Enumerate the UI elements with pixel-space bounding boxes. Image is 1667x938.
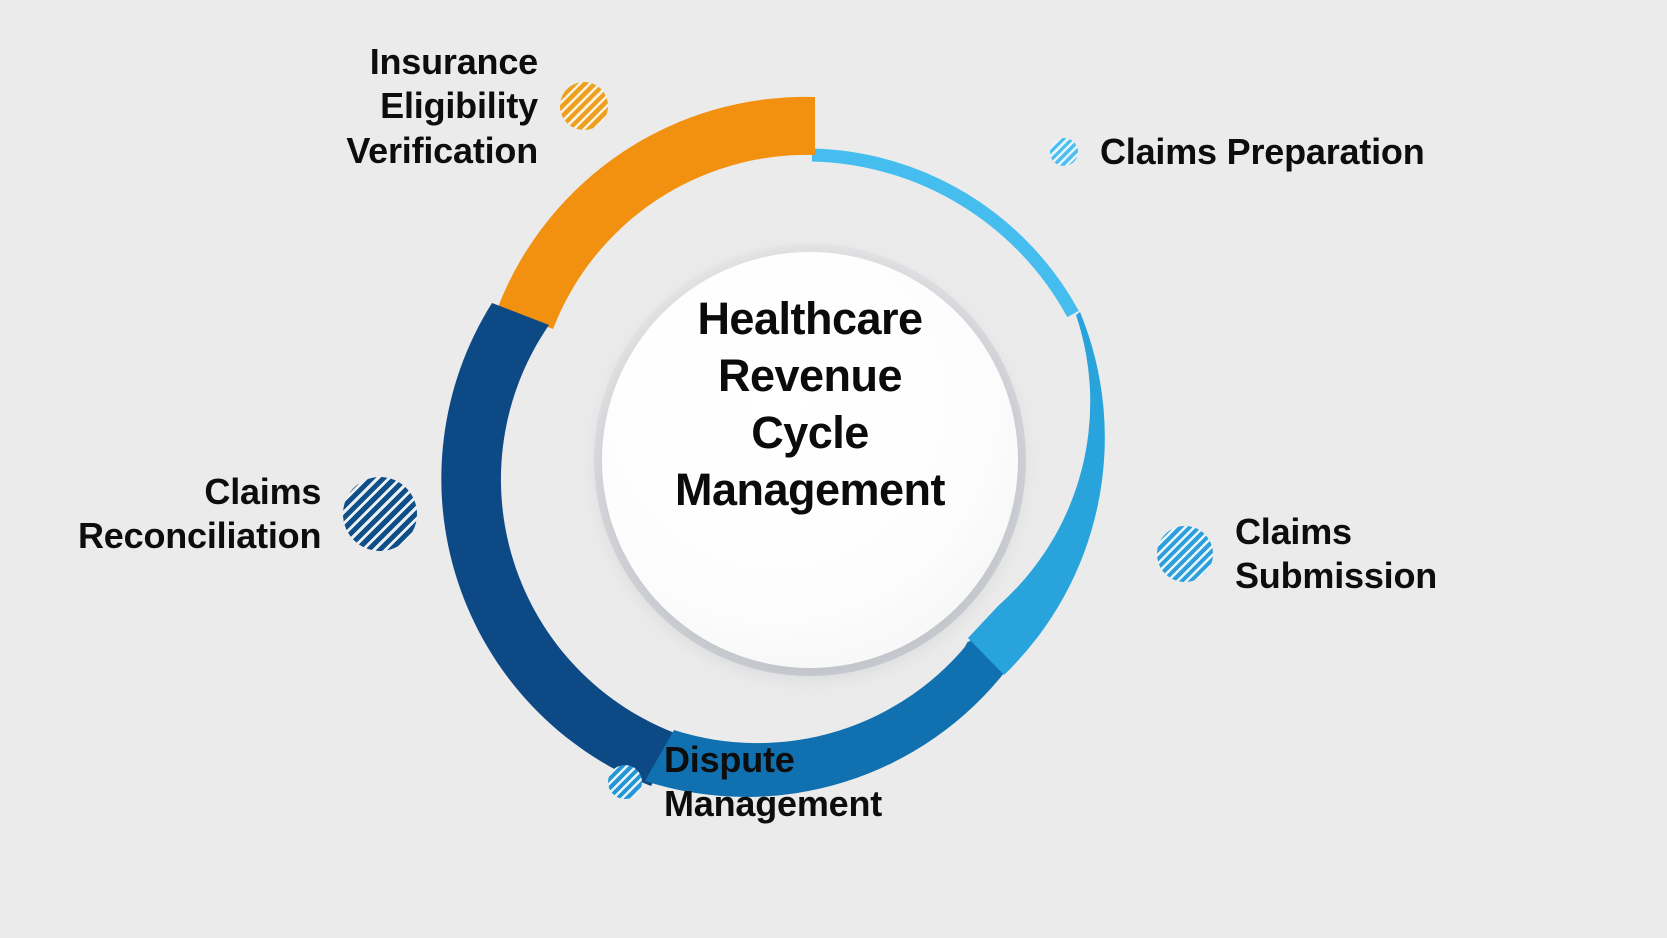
stage-label-text: Claims Reconciliation bbox=[78, 470, 321, 559]
stage-label-text: Dispute Management bbox=[664, 738, 882, 827]
hatched-circle-icon-insurance bbox=[560, 82, 608, 130]
stage-label-text: Claims Submission bbox=[1235, 510, 1437, 599]
stage-label-claims-preparation[interactable]: Claims Preparation bbox=[1050, 130, 1425, 174]
hatched-circle-icon-submission bbox=[1157, 526, 1213, 582]
stage-label-claims-reconciliation[interactable]: Claims Reconciliation bbox=[78, 470, 417, 559]
inner-circle bbox=[602, 252, 1018, 668]
stage-label-insurance-eligibility-verification[interactable]: Insurance Eligibility Verification bbox=[300, 40, 608, 173]
stage-label-text: Claims Preparation bbox=[1100, 130, 1425, 174]
hatched-circle-icon-preparation bbox=[1050, 138, 1078, 166]
stage-label-dispute-management[interactable]: Dispute Management bbox=[608, 738, 882, 827]
hatched-circle-icon-dispute bbox=[608, 765, 642, 799]
diagram-canvas: Healthcare Revenue Cycle Management Insu… bbox=[0, 0, 1667, 938]
stage-label-claims-submission[interactable]: Claims Submission bbox=[1157, 510, 1437, 599]
hatched-circle-icon-reconciliation bbox=[343, 477, 417, 551]
stage-label-text: Insurance Eligibility Verification bbox=[300, 40, 538, 173]
